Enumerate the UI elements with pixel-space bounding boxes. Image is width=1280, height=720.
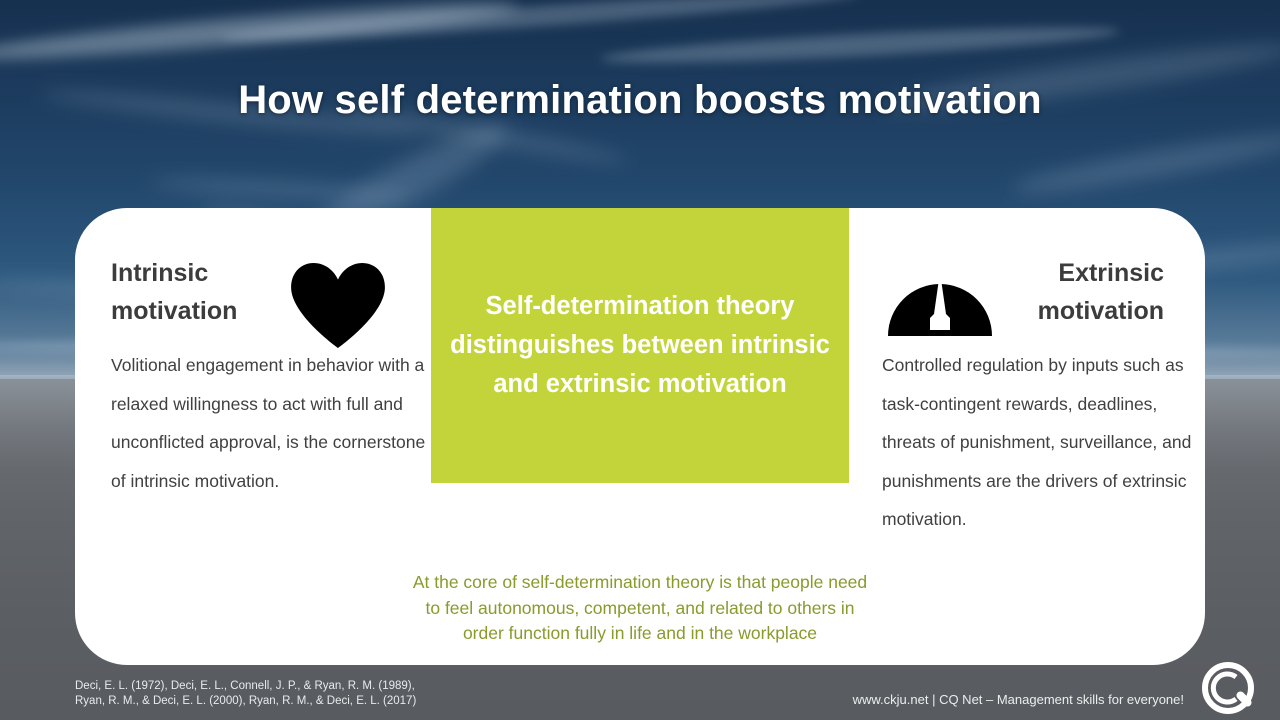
caption-line-2: to feel autonomous, competent, and relat… (75, 596, 1205, 622)
citations-block: Deci, E. L. (1972), Deci, E. L., Connell… (75, 679, 416, 709)
center-statement-panel: Self-determination theory distinguishes … (431, 208, 849, 483)
heart-icon-container (283, 246, 393, 338)
column-extrinsic-header: Extrinsic motivation (882, 246, 1200, 342)
footer-attribution: www.ckju.net | CQ Net – Management skill… (853, 692, 1184, 707)
center-statement-text: Self-determination theory distinguishes … (431, 287, 849, 404)
column-extrinsic-title: Extrinsic motivation (992, 246, 1164, 330)
page-title: How self determination boosts motivation (0, 78, 1280, 123)
cq-logo-icon (1202, 662, 1258, 718)
gauge-icon (886, 252, 994, 338)
gauge-icon-container (882, 246, 992, 338)
footer-separator: | (928, 692, 939, 707)
slide-root: How self determination boosts motivation… (0, 0, 1280, 720)
citations-line-2: Ryan, R. M., & Deci, E. L. (2000), Ryan,… (75, 694, 416, 709)
heart-icon (289, 262, 387, 348)
column-intrinsic-body: Volitional engagement in behavior with a… (111, 346, 429, 500)
caption-line-1: At the core of self-determination theory… (75, 570, 1205, 596)
column-intrinsic: Intrinsic motivation Volitional engageme… (111, 246, 429, 500)
column-intrinsic-title: Intrinsic motivation (111, 246, 283, 330)
caption-line-3: order function fully in life and in the … (75, 621, 1205, 647)
citations-line-1: Deci, E. L. (1972), Deci, E. L., Connell… (75, 679, 416, 694)
footer-website-link[interactable]: www.ckju.net (853, 692, 929, 707)
column-extrinsic-body: Controlled regulation by inputs such as … (882, 346, 1202, 539)
column-extrinsic: Extrinsic motivation Controlle (882, 246, 1200, 539)
content-card: Intrinsic motivation Volitional engageme… (75, 208, 1205, 665)
footer-tagline: CQ Net – Management skills for everyone! (939, 692, 1184, 707)
caption-block: At the core of self-determination theory… (75, 570, 1205, 647)
column-intrinsic-header: Intrinsic motivation (111, 246, 429, 342)
